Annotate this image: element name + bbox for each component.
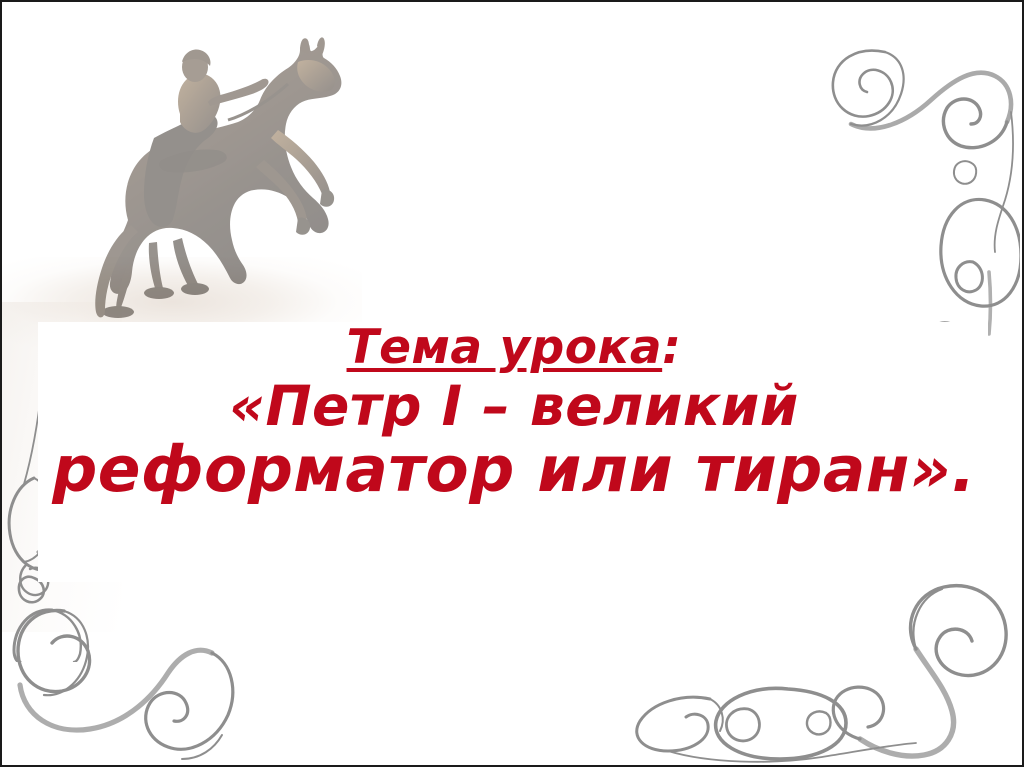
title-line-1-colon: : [662, 320, 681, 375]
page-title: Тема урока: «Петр I – великий реформатор… [2, 324, 1024, 502]
ornament-top-right-swirl-icon [815, 4, 1020, 349]
title-line-1-underlined: Тема урока [347, 320, 663, 375]
presentation-slide: Тема урока: «Петр I – великий реформатор… [0, 0, 1024, 767]
ornament-bottom-left-swirl-icon [4, 563, 294, 763]
ornament-bottom-right-swirl-icon [590, 553, 1020, 763]
title-line-2: «Петр I – великий [2, 378, 1024, 434]
title-line-3: реформатор или тиран». [2, 438, 1024, 502]
bronze-horseman-statue-icon [32, 10, 362, 330]
title-line-1: Тема урока: [2, 324, 1024, 372]
